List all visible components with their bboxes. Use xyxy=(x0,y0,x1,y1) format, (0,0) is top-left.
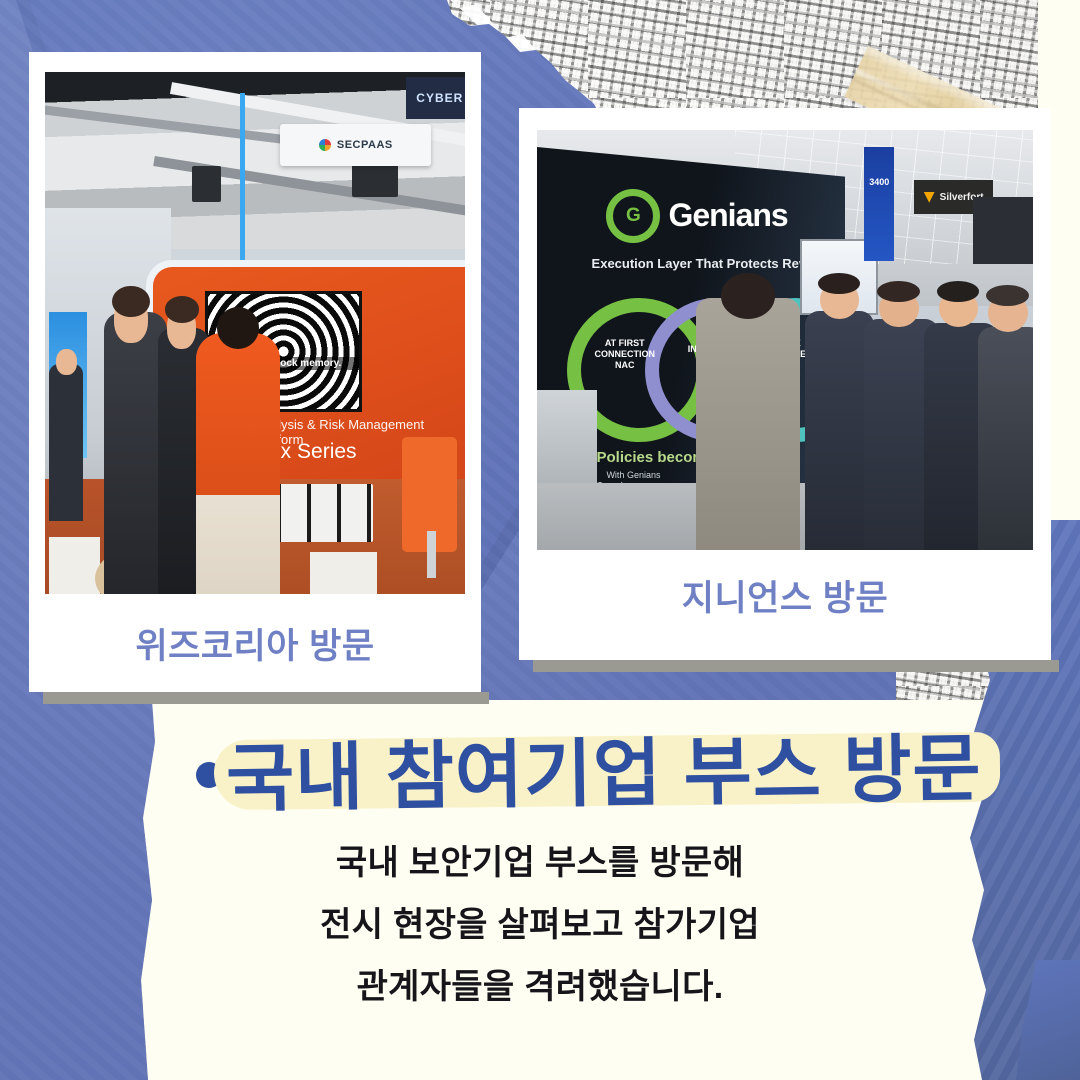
card-caption-weez-korea: 위즈코리아 방문 xyxy=(29,618,481,669)
body-line-2: 전시 현장을 살펴보고 참가기업 xyxy=(0,908,1080,942)
body-text-block: 국내 보안기업 부스를 방문해 전시 현장을 살펴보고 참가기업 관계자들을 격… xyxy=(0,846,1080,1032)
secpaas-label: SECPAAS xyxy=(337,139,393,151)
banner-with-genians-text: With Genians xyxy=(606,470,660,480)
page-title: 국내 참여기업 부스 방문 xyxy=(225,709,1006,827)
photo-card-weez-korea[interactable]: SECPAAS CYBER you can't block memory. An… xyxy=(29,52,481,692)
photo-weez-korea-booth: SECPAAS CYBER you can't block memory. An… xyxy=(45,72,465,594)
photo-genians-booth: G Genians Execution Layer That Protects … xyxy=(537,130,1033,550)
person-gray-suit xyxy=(696,298,800,550)
booth-number-banner: 3400 xyxy=(864,147,894,261)
booth-sign-secpaas: SECPAAS xyxy=(280,124,431,166)
card-shadow-bar xyxy=(43,692,489,704)
person-official xyxy=(104,312,167,594)
genians-logo-mark-icon: G xyxy=(606,189,660,243)
body-line-1: 국내 보안기업 부스를 방문해 xyxy=(0,846,1080,880)
secpaas-logo-icon xyxy=(319,139,331,151)
genians-logo: G Genians xyxy=(606,189,787,243)
person-orange-hoodie xyxy=(196,333,280,594)
body-line-3: 관계자들을 격려했습니다. xyxy=(0,970,1080,1004)
person-visitor-4 xyxy=(978,327,1033,550)
card-shadow-bar xyxy=(533,660,1059,672)
booth-sign-cyber: CYBER xyxy=(406,77,465,119)
poster-canvas: SECPAAS CYBER you can't block memory. An… xyxy=(0,0,1080,1080)
silverfort-logo-icon xyxy=(924,192,935,203)
photo-card-genians[interactable]: G Genians Execution Layer That Protects … xyxy=(519,108,1051,660)
genians-logo-text: Genians xyxy=(668,197,787,234)
card-caption-genians: 지니언스 방문 xyxy=(519,570,1051,621)
